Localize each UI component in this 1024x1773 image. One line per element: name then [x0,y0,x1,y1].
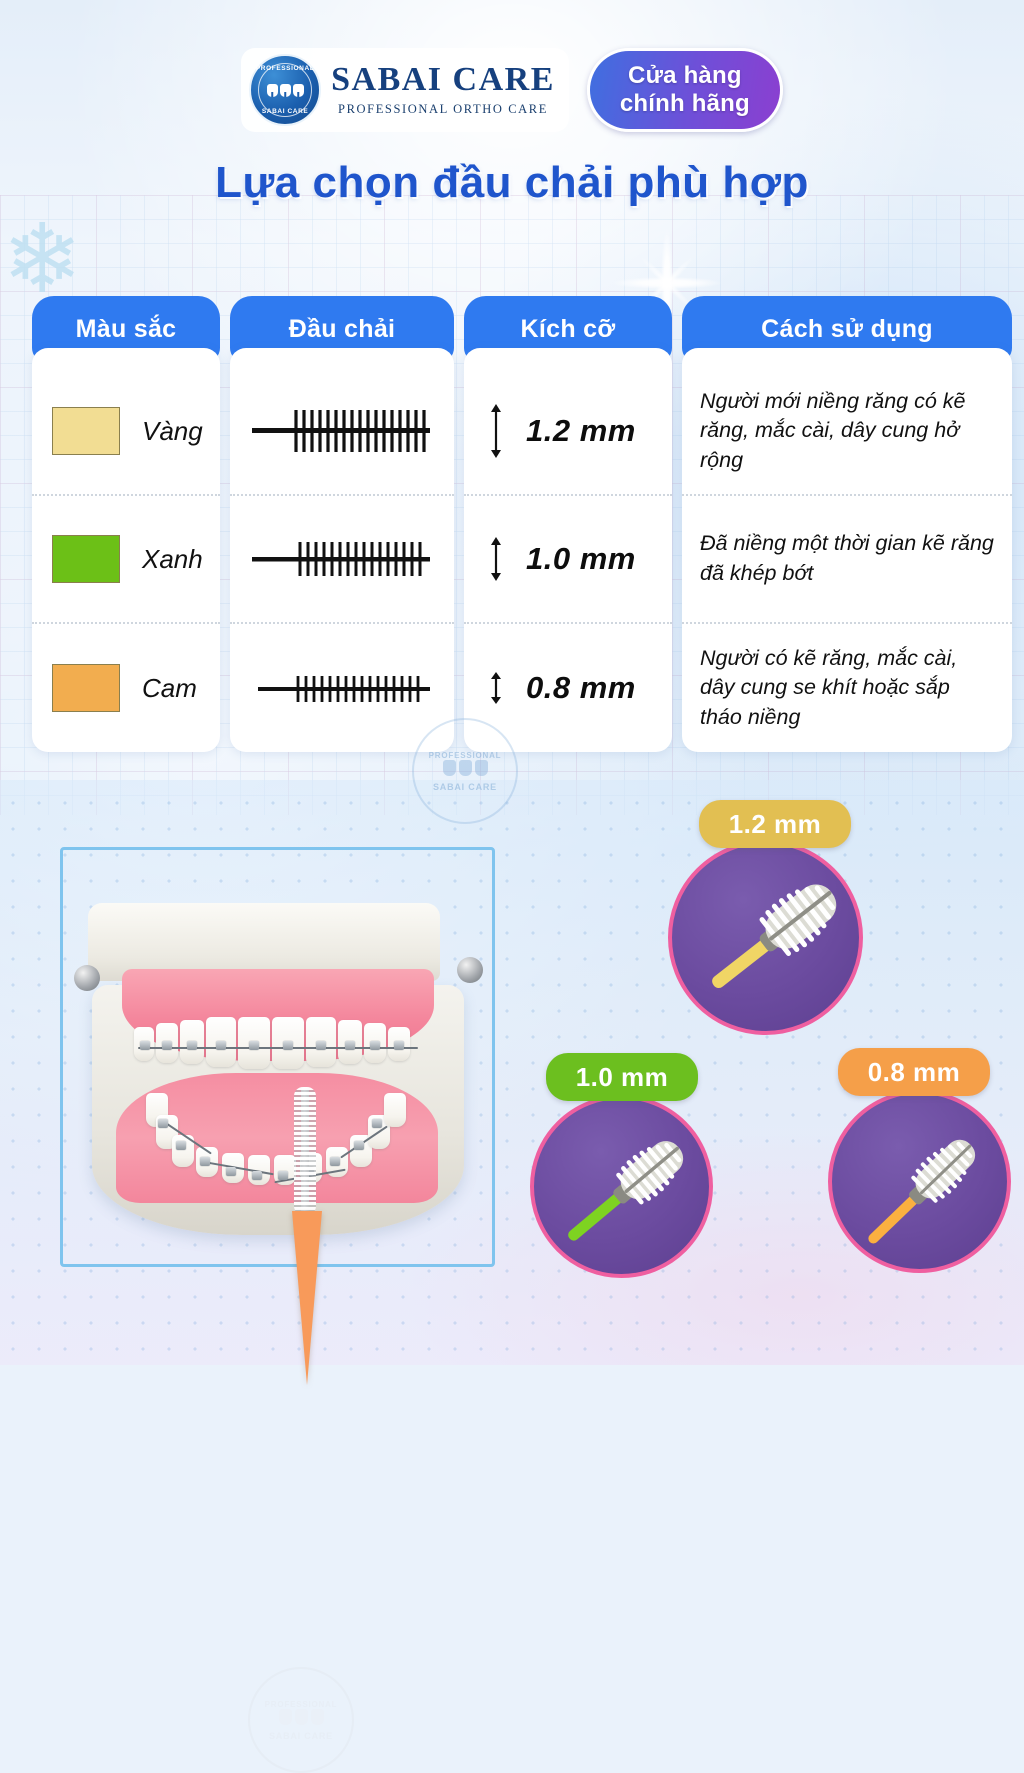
brush-photo-0-8mm [832,1094,1011,1273]
usage-column: Người mới niềng răng có kẽ răng, mắc cài… [682,348,1012,752]
size-badge-1-2mm: 1.2 mm [655,800,885,1035]
tooth-icon [293,84,304,97]
official-store-line-2: chính hãng [620,90,750,118]
bracket [370,1041,380,1050]
dental-model-illustration [50,865,505,1285]
table-row: 1.0 mm [464,496,672,624]
brand-logo-plate: PROFESSIONAL SABAI CARE SABAI CARE PROFE… [241,48,569,132]
page-title: Lựa chọn đầu chải phù hợp [0,158,1024,208]
color-label: Xanh [142,544,203,575]
table-row [230,624,454,752]
seal-top-text: PROFESSIONAL [251,65,319,72]
size-badge-pill-label: 1.2 mm [699,800,851,848]
table-row: Vàng [32,368,220,496]
table-row: 1.2 mm [464,368,672,496]
bracket [226,1167,236,1176]
comparison-table: Màu sắc Đầu chải Kích cỡ Cách sử dụng Và… [32,296,1012,752]
brush-handle [292,1211,322,1385]
table-row [230,496,454,624]
official-store-line-1: Cửa hàng [628,62,742,90]
bracket [216,1041,226,1050]
bracket [278,1171,288,1180]
table-row: Người mới niềng răng có kẽ răng, mắc cài… [682,368,1012,496]
bracket [140,1041,150,1050]
size-arrow-icon-large [486,403,506,459]
bracket [162,1041,172,1050]
table-row [230,368,454,496]
bracket [372,1119,382,1128]
color-label: Vàng [142,416,203,447]
dental-model-photo: PROFESSIONAL SABAI CARE [30,805,520,1365]
bracket [158,1119,168,1128]
brush-head-diagram-small [248,659,436,717]
size-badge-circle [828,1090,1011,1273]
header: PROFESSIONAL SABAI CARE SABAI CARE PROFE… [0,36,1024,144]
size-badge-0-8mm: 0.8 mm [820,1048,1024,1273]
size-label: 1.2 mm [526,413,636,449]
usage-description: Người có kẽ răng, mắc cài, dây cung se k… [700,644,996,733]
bracket [283,1041,293,1050]
brand-name: SABAI CARE [331,63,555,97]
usage-description: Đã niềng một thời gian kẽ răng đã khép b… [700,529,996,588]
upper-teeth-arch [134,1017,424,1071]
size-badge-pill-label: 0.8 mm [838,1048,990,1096]
lower-teeth-arch [146,1089,414,1185]
official-store-badge: Cửa hàng chính hãng [587,48,783,132]
usage-description: Người mới niềng răng có kẽ răng, mắc cài… [700,387,996,476]
bracket [249,1041,259,1050]
size-badge-pill-label: 1.0 mm [546,1053,698,1101]
watermark-tooth-icons [443,760,488,776]
table-row: Xanh [32,496,220,624]
bracket [345,1041,355,1050]
size-arrow-icon-medium [486,536,506,582]
seal-bottom-text: SABAI CARE [251,108,319,115]
brush-head-diagram-medium [248,530,436,588]
watermark-bottom-text: SABAI CARE [269,1731,333,1741]
bracket [316,1041,326,1050]
interdental-brush-orange [288,1083,322,1383]
brush-photo-1-2mm [672,844,863,1035]
snowflake-icon: ❄ [2,212,82,308]
brush-head-column [230,348,454,752]
table-row: Người có kẽ răng, mắc cài, dây cung se k… [682,624,1012,752]
color-swatch-cam [52,664,120,712]
table-row: Cam [32,624,220,752]
jaw-hinge-right [457,957,483,983]
watermark-top-text: PROFESSIONAL [265,1700,338,1709]
bracket [176,1141,186,1150]
brush-photo-1-0mm [534,1099,713,1278]
table-body: Vàng Xanh Cam [32,348,1012,752]
size-label: 0.8 mm [526,670,636,706]
bracket [394,1041,404,1050]
brush-bristles [301,1087,309,1215]
color-column: Vàng Xanh Cam [32,348,220,752]
brand-text-block: SABAI CARE PROFESSIONAL ORTHO CARE [331,63,555,117]
size-label: 1.0 mm [526,541,636,577]
size-column: 1.2 mm 1.0 mm 0.8 mm [464,348,672,752]
bracket [354,1141,364,1150]
watermark-bottom-text: SABAI CARE [433,782,497,792]
bracket [330,1157,340,1166]
color-swatch-vang [52,407,120,455]
tooth-icon [280,84,291,97]
size-badge-circle [668,840,863,1035]
tooth [384,1093,406,1127]
bracket [252,1171,262,1180]
watermark-logo-overlay: PROFESSIONAL SABAI CARE [248,1667,354,1773]
sabai-care-seal-icon: PROFESSIONAL SABAI CARE [249,54,321,126]
size-badge-circle [530,1095,713,1278]
watermark-tooth-icons [279,1709,324,1725]
size-badge-1-0mm: 1.0 mm [520,1053,735,1278]
color-label: Cam [142,673,197,704]
brand-tagline: PROFESSIONAL ORTHO CARE [331,102,555,117]
watermark-top-text: PROFESSIONAL [429,751,502,760]
bracket [187,1041,197,1050]
color-swatch-xanh [52,535,120,583]
brush-head-diagram-large [248,402,436,460]
jaw-hinge-left [74,965,100,991]
size-arrow-icon-small [486,671,506,705]
tooth-icon [267,84,278,97]
tooth-icon-group [267,84,304,97]
table-row: Đã niềng một thời gian kẽ răng đã khép b… [682,496,1012,624]
bracket [200,1157,210,1166]
